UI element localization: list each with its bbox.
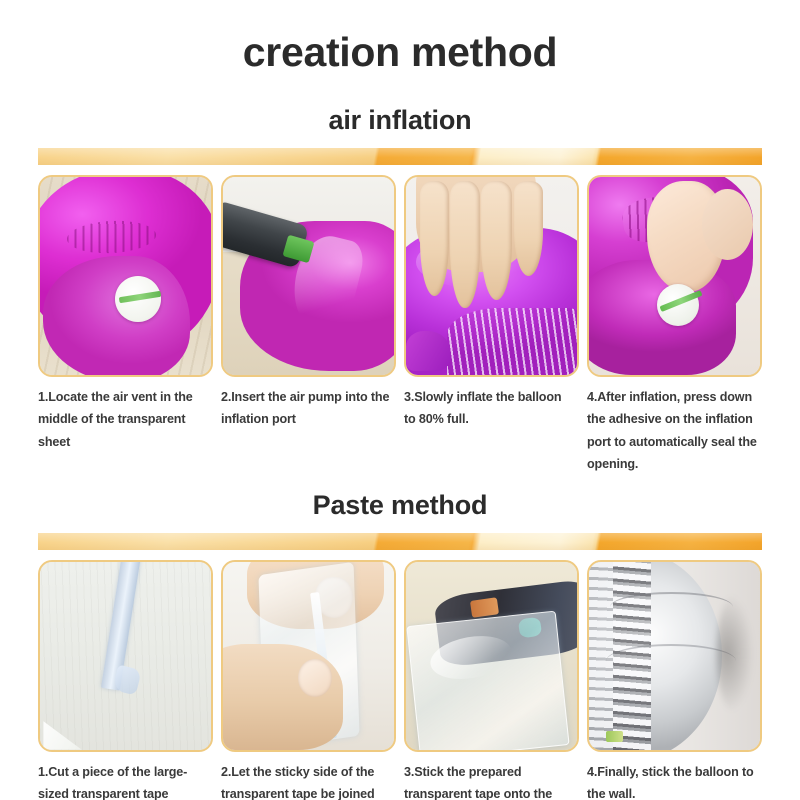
photo-air-pump-icon [223, 177, 394, 375]
finger-4 [514, 181, 543, 276]
photo-card-4[interactable] [587, 175, 762, 377]
photo-row-air-inflation [38, 175, 762, 377]
photo-card-3[interactable] [404, 175, 579, 377]
step-panel-5 [38, 560, 213, 752]
decorative-gold-bar-bottom [38, 533, 762, 550]
photo-tape-strip-icon [40, 562, 211, 750]
lower-hand-shape [223, 644, 343, 749]
foil-lobe-shape [43, 256, 190, 375]
tape-square-applied [406, 611, 570, 750]
instruction-sheet: creation method air inflation [0, 0, 800, 800]
finger-1 [420, 181, 449, 296]
photo-tape-on-balloon-icon [406, 562, 577, 750]
caption-step-5: 1.Cut a piece of the large-sized transpa… [38, 761, 213, 800]
caption-row-paste-method: 1.Cut a piece of the large-sized transpa… [38, 761, 762, 800]
photo-card-1[interactable] [38, 175, 213, 377]
section-title-air-inflation: air inflation [0, 73, 800, 136]
knuckle-shape [702, 189, 753, 260]
photo-thumb-sealing-vent-icon [589, 177, 760, 375]
photo-pink-balloon-vent-icon [40, 177, 211, 375]
photo-balloon-on-wall-icon [589, 562, 760, 750]
decorative-gold-bar-top [38, 148, 762, 165]
caption-step-1: 1.Locate the air vent in the middle of t… [38, 386, 213, 476]
wall-shadow [716, 595, 754, 712]
photo-card-6[interactable] [221, 560, 396, 752]
photo-card-8[interactable] [587, 560, 762, 752]
caption-step-4: 4.After inflation, press down the adhesi… [587, 386, 762, 476]
balloon-fringe-texture [447, 308, 577, 375]
step-panel-7 [404, 560, 579, 752]
photo-card-2[interactable] [221, 175, 396, 377]
step-panel-6 [221, 560, 396, 752]
caption-step-6: 2.Let the sticky side of the transparent… [221, 761, 396, 800]
photo-hands-joining-tape-icon [223, 562, 394, 750]
step-panel-1 [38, 175, 213, 377]
green-accent-detail [606, 731, 623, 742]
step-panel-2 [221, 175, 396, 377]
caption-step-2: 2.Insert the air pump into the inflation… [221, 386, 396, 476]
photo-card-7[interactable] [404, 560, 579, 752]
section-title-paste-method: Paste method [0, 476, 800, 521]
finger-3 [481, 181, 512, 300]
photo-card-5[interactable] [38, 560, 213, 752]
photo-hand-pressing-balloon-icon [406, 177, 577, 375]
finger-2 [450, 181, 479, 308]
caption-step-8: 4.Finally, stick the balloon to the wall… [587, 761, 762, 800]
caption-row-air-inflation: 1.Locate the air vent in the middle of t… [38, 386, 762, 476]
balloon-tail [406, 331, 450, 371]
step-panel-4 [587, 175, 762, 377]
caption-step-7: 3.Stick the prepared transparent tape on… [404, 761, 579, 800]
step-panel-8 [587, 560, 762, 752]
balloon-seam-ring-top [610, 592, 733, 622]
page-title: creation method [0, 0, 800, 73]
caption-step-3: 3.Slowly inflate the balloon to 80% full… [404, 386, 579, 476]
photo-row-paste-method [38, 560, 762, 752]
step-panel-3 [404, 175, 579, 377]
